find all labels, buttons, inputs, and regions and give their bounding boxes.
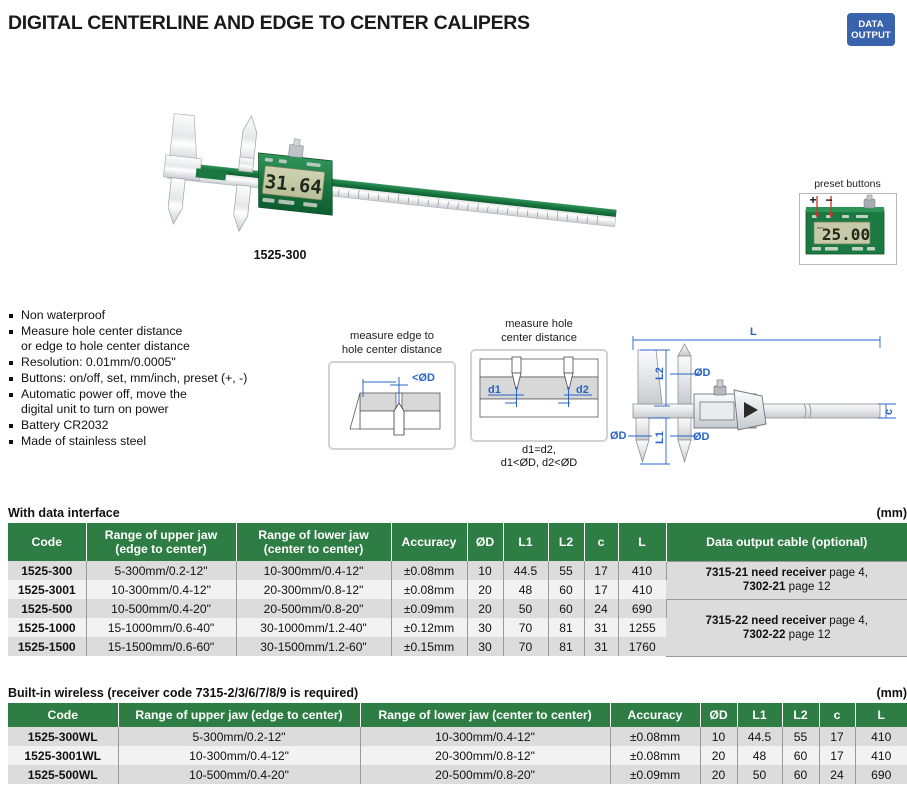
bullet-square-icon (9, 393, 13, 397)
preset-buttons-image: 25.00 mm + − (799, 193, 897, 265)
preset-plus-label: + (810, 193, 817, 207)
product-photo: 31.64 (0, 62, 907, 272)
cell-l1: 70 (503, 637, 548, 656)
th-l1: L1 (503, 523, 548, 561)
th-accuracy: Accuracy (391, 523, 467, 561)
feature-text: Buttons: on/off, set, mm/inch, preset (+… (21, 371, 247, 385)
caliper-dimension-svg: L (608, 318, 904, 480)
cell-code: 1525-300WL (8, 727, 118, 746)
feature-item: Buttons: on/off, set, mm/inch, preset (+… (8, 371, 308, 387)
preset-buttons-label: preset buttons (795, 178, 900, 190)
th-lower-jaw: Range of lower jaw (center to center) (360, 703, 610, 727)
table1-title-row: With data interface (mm) (8, 506, 907, 520)
th-c: c (819, 703, 855, 727)
d2-label: d2 (576, 384, 589, 396)
table-row: 1525-50010-500mm/0.4-20"20-500mm/0.8-20"… (8, 599, 907, 618)
cell-lower-jaw: 30-1500mm/1.2-60" (236, 637, 391, 656)
bullet-square-icon (9, 377, 13, 381)
feature-text: digital unit to turn on power (21, 402, 169, 416)
feature-item-continuation: or edge to hole center distance (8, 339, 308, 355)
cell-l1: 50 (737, 765, 782, 784)
cell-l: 410 (855, 727, 907, 746)
cell-c: 24 (584, 599, 618, 618)
th-upper-jaw-line1: Range of upper jaw (105, 528, 217, 542)
cell-data-output-cable: 7315-21 need receiver page 4,7302-21 pag… (666, 561, 907, 599)
cell-od: 20 (467, 599, 503, 618)
cell-upper-jaw: 10-300mm/0.4-12" (86, 580, 236, 599)
edge-to-hole-drawing: <ØD (330, 363, 454, 443)
table-with-data-interface: With data interface (mm) Code Range of u… (8, 506, 907, 657)
feature-text: Automatic power off, move the (21, 387, 187, 401)
od-label-lower: ØD (693, 431, 710, 443)
cell-accuracy: ±0.15mm (391, 637, 467, 656)
L2-dimension-label: L2 (654, 367, 666, 380)
catalog-page: DIGITAL CENTERLINE AND EDGE TO CENTER CA… (0, 0, 907, 787)
feature-text: Measure hole center distance (21, 324, 182, 338)
th-l: L (855, 703, 907, 727)
cell-lower-jaw: 10-300mm/0.4-12" (236, 561, 391, 580)
cell-accuracy: ±0.08mm (610, 727, 700, 746)
table1: Code Range of upper jaw (edge to center)… (8, 523, 907, 657)
cell-l1: 44.5 (503, 561, 548, 580)
table-row: 1525-300WL5-300mm/0.2-12"10-300mm/0.4-12… (8, 727, 907, 746)
od-label-upper: ØD (694, 367, 711, 379)
cell-lower-jaw: 10-300mm/0.4-12" (360, 727, 610, 746)
diagram-edge-to-hole-frame: <ØD (328, 361, 456, 450)
diagram-hole-center-caption: measure hole center distance (470, 318, 608, 345)
feature-item: Measure hole center distance (8, 324, 308, 340)
cell-c: 31 (584, 637, 618, 656)
table-row: 1525-500WL10-500mm/0.4-20"20-500mm/0.8-2… (8, 765, 907, 784)
cell-upper-jaw: 5-300mm/0.2-12" (86, 561, 236, 580)
feature-item: Battery CR2032 (8, 418, 308, 434)
cell-l2: 60 (782, 765, 819, 784)
cell-od: 30 (467, 618, 503, 637)
cell-l2: 60 (548, 599, 584, 618)
cell-l1: 70 (503, 618, 548, 637)
L1-dimension-label: L1 (654, 431, 666, 444)
table1-header-row: Code Range of upper jaw (edge to center)… (8, 523, 907, 561)
table1-section-title: With data interface (8, 506, 120, 520)
th-lower-jaw-line2: (center to center) (264, 542, 364, 556)
th-c: c (584, 523, 618, 561)
note-line-2: d1<ØD, d2<ØD (470, 457, 608, 470)
cell-upper-jaw: 15-1000mm/0.6-40" (86, 618, 236, 637)
cell-code: 1525-1500 (8, 637, 86, 656)
c-dimension-label: c (883, 409, 895, 415)
cell-upper-jaw: 10-500mm/0.4-20" (118, 765, 360, 784)
th-cable: Data output cable (optional) (666, 523, 907, 561)
cell-l1: 48 (503, 580, 548, 599)
cell-od: 10 (700, 727, 737, 746)
cell-accuracy: ±0.08mm (610, 746, 700, 765)
th-accuracy: Accuracy (610, 703, 700, 727)
cell-accuracy: ±0.12mm (391, 618, 467, 637)
cell-lower-jaw: 30-1000mm/1.2-40" (236, 618, 391, 637)
th-lower-jaw: Range of lower jaw (center to center) (236, 523, 391, 561)
bullet-square-icon (9, 424, 13, 428)
cell-l: 410 (618, 580, 666, 599)
feature-text: Non waterproof (21, 308, 105, 322)
hole-center-drawing: d1 d2 (472, 351, 606, 435)
caliper-illustration: 31.64 (0, 62, 907, 272)
cell-l2: 81 (548, 618, 584, 637)
note-line-1: d1=d2, (470, 444, 608, 457)
th-l2: L2 (548, 523, 584, 561)
cell-upper-jaw: 5-300mm/0.2-12" (118, 727, 360, 746)
cell-od: 30 (467, 637, 503, 656)
cell-l2: 55 (782, 727, 819, 746)
diagram-hole-center-frame: d1 d2 (470, 349, 608, 442)
cell-l1: 50 (503, 599, 548, 618)
technical-dimension-drawing: L (608, 318, 904, 480)
cell-code: 1525-300 (8, 561, 86, 580)
table1-body: 1525-3005-300mm/0.2-12"10-300mm/0.4-12"±… (8, 561, 907, 656)
cell-od: 20 (700, 765, 737, 784)
cell-c: 24 (819, 765, 855, 784)
diagram-edge-to-hole: measure edge to hole center distance (328, 330, 456, 450)
table-row: 1525-3005-300mm/0.2-12"10-300mm/0.4-12"±… (8, 561, 907, 580)
cell-l2: 55 (548, 561, 584, 580)
cell-l1: 48 (737, 746, 782, 765)
caption-line-1: measure edge to (328, 330, 456, 344)
cell-accuracy: ±0.08mm (391, 561, 467, 580)
cell-l: 690 (618, 599, 666, 618)
table2-header-row: Code Range of upper jaw (edge to center)… (8, 703, 907, 727)
table2-unit-label: (mm) (876, 686, 907, 700)
th-lower-jaw-line1: Range of lower jaw (258, 528, 368, 542)
table2-title-row: Built-in wireless (receiver code 7315-2/… (8, 686, 907, 700)
th-code: Code (8, 703, 118, 727)
cell-code: 1525-3001 (8, 580, 86, 599)
cell-l: 690 (855, 765, 907, 784)
cell-od: 10 (467, 561, 503, 580)
cell-lower-jaw: 20-500mm/0.8-20" (236, 599, 391, 618)
d1-label: d1 (488, 384, 501, 396)
cell-c: 31 (584, 618, 618, 637)
table-built-in-wireless: Built-in wireless (receiver code 7315-2/… (8, 686, 907, 784)
cell-c: 17 (584, 561, 618, 580)
cell-c: 17 (819, 746, 855, 765)
svg-text:mm: mm (817, 225, 824, 230)
feature-item-continuation: digital unit to turn on power (8, 402, 308, 418)
feature-text: or edge to hole center distance (21, 339, 190, 353)
cell-od: 20 (700, 746, 737, 765)
diameter-label: <ØD (412, 372, 435, 384)
page-header: DIGITAL CENTERLINE AND EDGE TO CENTER CA… (8, 10, 899, 50)
cell-code: 1525-3001WL (8, 746, 118, 765)
cell-l2: 60 (548, 580, 584, 599)
bullet-square-icon (9, 361, 13, 365)
table2: Code Range of upper jaw (edge to center)… (8, 703, 907, 784)
table2-section-title: Built-in wireless (receiver code 7315-2/… (8, 686, 358, 700)
feature-text: Made of stainless steel (21, 434, 146, 448)
diagram-hole-center-note: d1=d2, d1<ØD, d2<ØD (470, 444, 608, 470)
table-row: 1525-3001WL10-300mm/0.4-12"20-300mm/0.8-… (8, 746, 907, 765)
cell-code: 1525-500WL (8, 765, 118, 784)
cell-code: 1525-1000 (8, 618, 86, 637)
th-od: ØD (700, 703, 737, 727)
cell-upper-jaw: 15-1500mm/0.6-60" (86, 637, 236, 656)
cell-l: 1255 (618, 618, 666, 637)
product-photo-caption: 1525-300 (0, 248, 560, 262)
data-output-badge: DATA OUTPUT (847, 13, 895, 46)
caption-line-2: hole center distance (328, 344, 456, 358)
od-label-left: ØD (610, 430, 627, 442)
th-code: Code (8, 523, 86, 561)
cell-code: 1525-500 (8, 599, 86, 618)
cell-accuracy: ±0.09mm (391, 599, 467, 618)
feature-text: Battery CR2032 (21, 418, 109, 432)
cell-upper-jaw: 10-300mm/0.4-12" (118, 746, 360, 765)
bullet-square-icon (9, 440, 13, 444)
cell-data-output-cable: 7315-22 need receiver page 4,7302-22 pag… (666, 599, 907, 656)
th-l2: L2 (782, 703, 819, 727)
page-title: DIGITAL CENTERLINE AND EDGE TO CENTER CA… (8, 10, 899, 36)
cell-l: 410 (855, 746, 907, 765)
cell-l: 1760 (618, 637, 666, 656)
table2-body: 1525-300WL5-300mm/0.2-12"10-300mm/0.4-12… (8, 727, 907, 784)
L-dimension-label: L (750, 326, 757, 338)
badge-line-1: DATA (858, 19, 883, 30)
cell-lower-jaw: 20-300mm/0.8-12" (236, 580, 391, 599)
bullet-square-icon (9, 314, 13, 318)
features-ul: Non waterproof Measure hole center dista… (8, 308, 308, 449)
th-l1: L1 (737, 703, 782, 727)
table1-unit-label: (mm) (876, 506, 907, 520)
th-od: ØD (467, 523, 503, 561)
feature-item: Non waterproof (8, 308, 308, 324)
feature-item: Resolution: 0.01mm/0.0005" (8, 355, 308, 371)
cell-accuracy: ±0.08mm (391, 580, 467, 599)
th-l: L (618, 523, 666, 561)
cell-upper-jaw: 10-500mm/0.4-20" (86, 599, 236, 618)
cell-od: 20 (467, 580, 503, 599)
feature-text: Resolution: 0.01mm/0.0005" (21, 355, 176, 369)
bullet-square-icon (9, 330, 13, 334)
th-upper-jaw: Range of upper jaw (edge to center) (86, 523, 236, 561)
cell-l: 410 (618, 561, 666, 580)
badge-line-2: OUTPUT (851, 30, 891, 41)
feature-item: Automatic power off, move the (8, 387, 308, 403)
feature-item: Made of stainless steel (8, 434, 308, 450)
cell-l2: 81 (548, 637, 584, 656)
preset-lcd-value: 25.00 (821, 225, 869, 244)
cell-c: 17 (819, 727, 855, 746)
cell-accuracy: ±0.09mm (610, 765, 700, 784)
caption-line-2: center distance (470, 332, 608, 346)
cell-lower-jaw: 20-500mm/0.8-20" (360, 765, 610, 784)
th-upper-jaw: Range of upper jaw (edge to center) (118, 703, 360, 727)
caption-line-1: measure hole (470, 318, 608, 332)
preset-minus-label: − (826, 193, 833, 207)
cell-l2: 60 (782, 746, 819, 765)
diagram-edge-to-hole-caption: measure edge to hole center distance (328, 330, 456, 357)
cell-lower-jaw: 20-300mm/0.8-12" (360, 746, 610, 765)
preset-buttons-callout: preset buttons 25.00 mm (795, 178, 900, 265)
cell-l1: 44.5 (737, 727, 782, 746)
diagram-hole-center: measure hole center distance (470, 318, 608, 470)
features-list: Non waterproof Measure hole center dista… (8, 308, 308, 449)
cell-c: 17 (584, 580, 618, 599)
th-upper-jaw-line2: (edge to center) (115, 542, 206, 556)
